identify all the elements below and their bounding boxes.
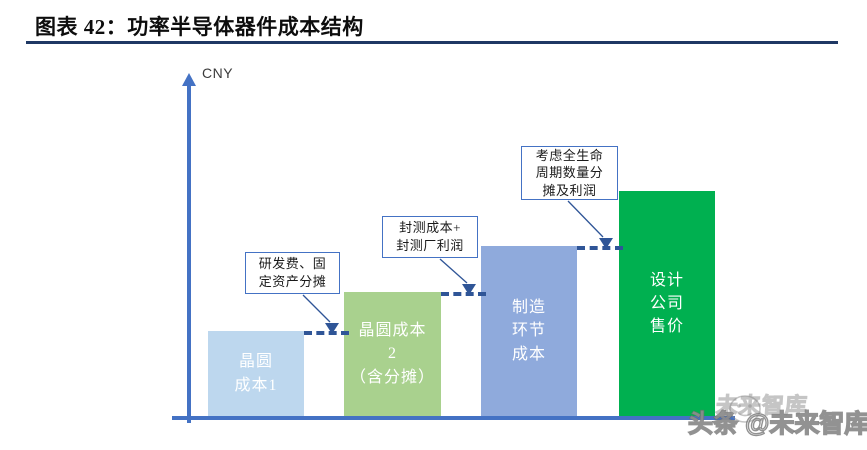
callout-lifecycle-profit[interactable]: 考虑全生命 周期数量分 摊及利润 bbox=[521, 146, 618, 200]
dashed-connector-3-arrowhead-icon bbox=[599, 238, 613, 249]
dashed-connector-2-arrowhead-icon bbox=[462, 284, 476, 295]
header-divider bbox=[26, 41, 838, 44]
figure-header: 图表 42：功率半导体器件成本结构 bbox=[0, 0, 867, 48]
bar-manufacturing-cost[interactable]: 制造 环节 成本 bbox=[481, 246, 577, 416]
bar-design-company-price[interactable]: 设计 公司 售价 bbox=[619, 191, 715, 416]
page-title: 图表 42：功率半导体器件成本结构 bbox=[35, 11, 364, 41]
callout-rnd-fixed-asset[interactable]: 研发费、固 定资产分摊 bbox=[245, 252, 340, 294]
bar-wafer-cost-2[interactable]: 晶圆成本 2 （含分摊） bbox=[344, 292, 441, 416]
x-axis-line bbox=[172, 416, 735, 420]
watermark: 未来智库 头条 @未来智库 bbox=[688, 398, 863, 438]
y-axis-label: CNY bbox=[202, 65, 233, 81]
dashed-connector-1-arrowhead-icon bbox=[325, 323, 339, 334]
y-axis-line bbox=[187, 83, 191, 423]
bar-wafer-cost-1[interactable]: 晶圆 成本1 bbox=[208, 331, 304, 416]
callout-packaging-test[interactable]: 封测成本+ 封测厂利润 bbox=[382, 216, 478, 258]
watermark-main-text: 头条 @未来智库 bbox=[688, 404, 867, 440]
